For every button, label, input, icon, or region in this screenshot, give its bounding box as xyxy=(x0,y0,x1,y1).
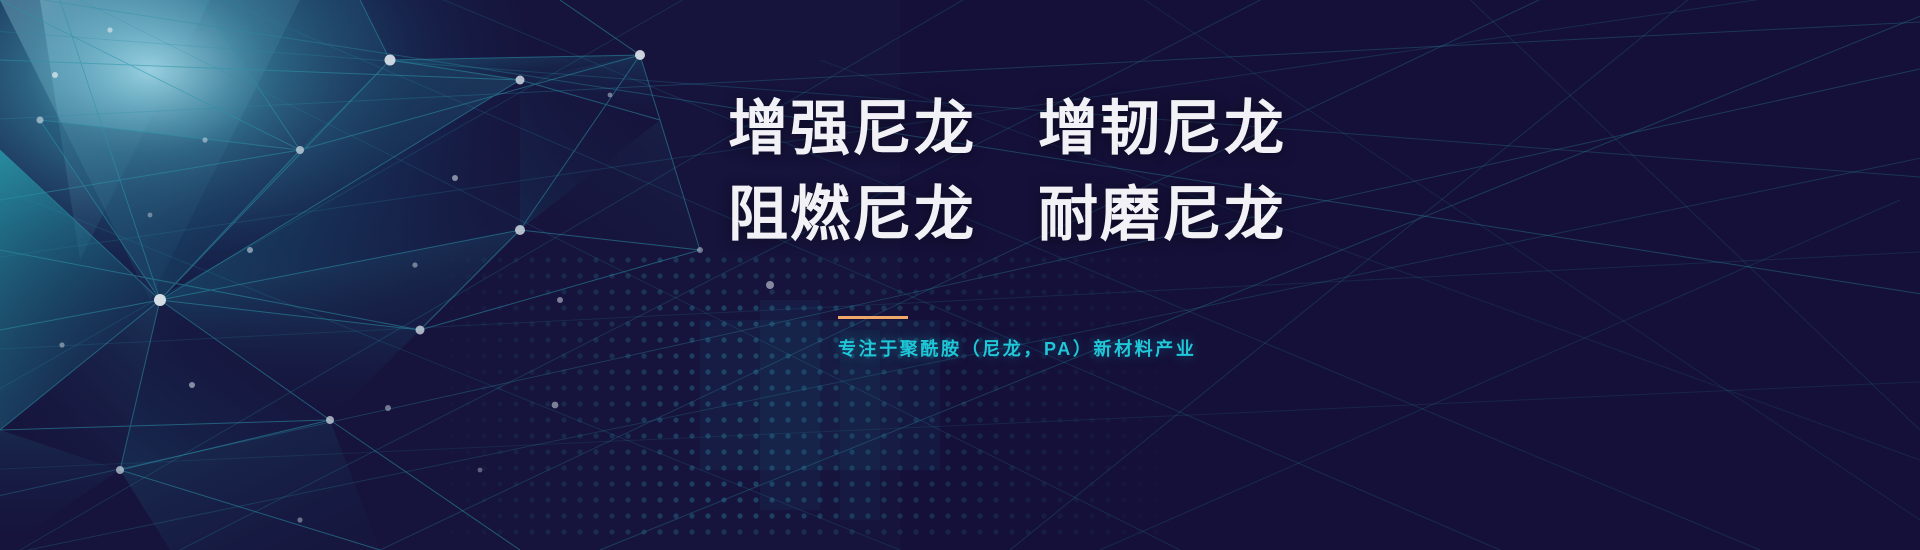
accent-divider-rule xyxy=(838,316,908,319)
headline-line-1: 增强尼龙 增韧尼龙 xyxy=(728,86,1628,172)
hero-banner: 增强尼龙 增韧尼龙 阻燃尼龙 耐磨尼龙 专注于聚酰胺（尼龙，PA）新材料产业 xyxy=(0,0,1920,550)
subtitle-block: 专注于聚酰胺（尼龙，PA）新材料产业 xyxy=(728,316,1628,362)
banner-copy-block: 增强尼龙 增韧尼龙 阻燃尼龙 耐磨尼龙 专注于聚酰胺（尼龙，PA）新材料产业 xyxy=(728,86,1628,362)
banner-subtitle: 专注于聚酰胺（尼龙，PA）新材料产业 xyxy=(838,336,1628,362)
headline-line-2: 阻燃尼龙 耐磨尼龙 xyxy=(728,172,1628,258)
